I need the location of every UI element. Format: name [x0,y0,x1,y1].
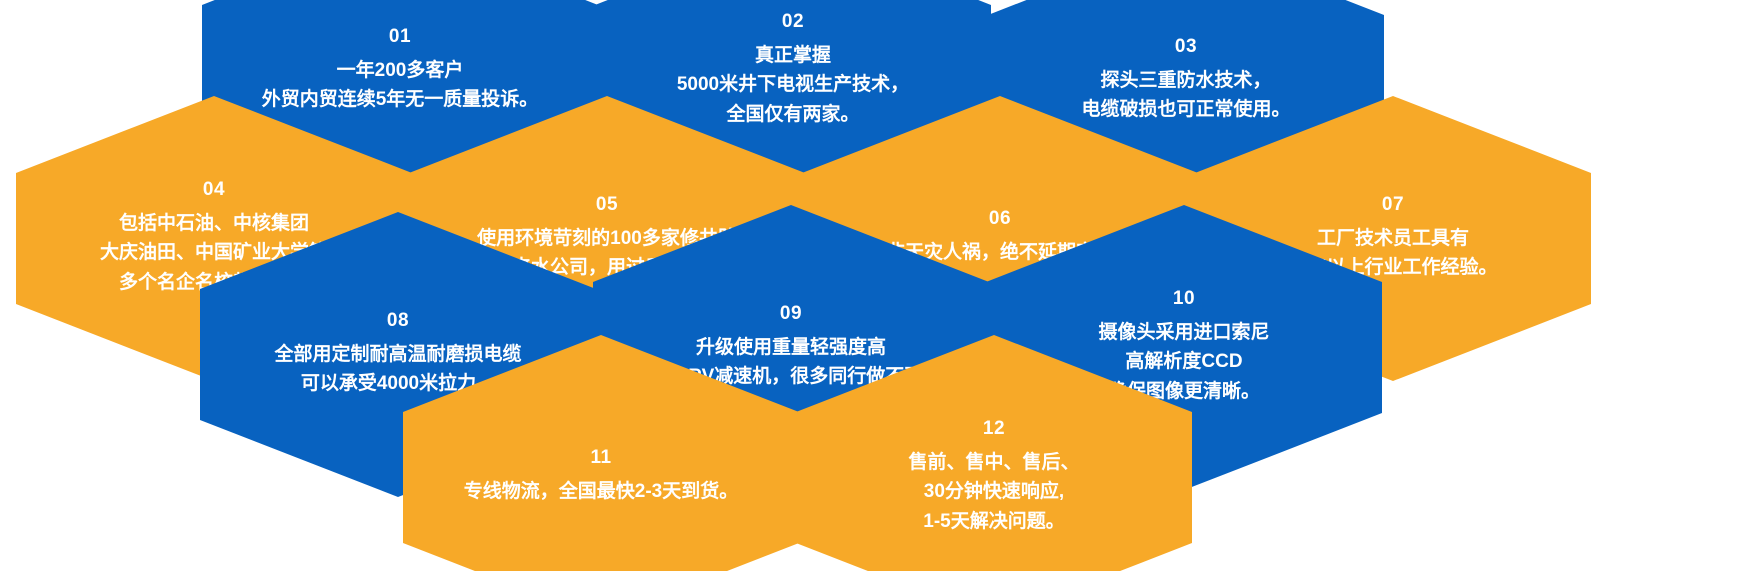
hex-number-03: 03 [1175,37,1197,58]
hex-text-line: 高解析度CCD [1098,347,1269,376]
hex-number-05: 05 [596,195,618,216]
hex-text-03: 探头三重防水技术，电缆破损也可正常使用。 [1081,66,1290,125]
hex-number-12: 12 [983,419,1005,440]
hex-text-line: 全国仅有两家。 [677,100,909,129]
hex-text-line: 包括中石油、中核集团 [100,209,328,238]
hex-text-line: 一年200多客户 [262,56,539,85]
hex-number-10: 10 [1173,289,1195,310]
hex-text-line: 外贸内贸连续5年无一质量投诉。 [262,85,539,114]
hex-text-line: 全部用定制耐高温耐磨损电缆 [274,340,521,369]
hex-text-12: 售前、售中、售后、30分钟快速响应,1-5天解决问题。 [908,448,1079,536]
hex-text-line: 30分钟快速响应, [908,477,1079,506]
hex-number-04: 04 [203,180,225,201]
hex-text-line: 专线物流，全国最快2-3天到货。 [464,477,738,506]
hex-number-09: 09 [780,304,802,325]
hex-text-line: 探头三重防水技术， [1081,66,1290,95]
hex-text-line: 1-5天解决问题。 [908,507,1079,536]
corner-accent-left-icon [50,122,112,146]
hex-text-line: 工厂技术员工具有 [1288,224,1497,253]
hex-text-line: 电缆破损也可正常使用。 [1081,95,1290,124]
hex-text-01: 一年200多客户外贸内贸连续5年无一质量投诉。 [262,56,539,115]
hex-number-06: 06 [989,209,1011,230]
hex-number-07: 07 [1382,195,1404,216]
hex-text-line: 售前、售中、售后、 [908,448,1079,477]
hex-number-02: 02 [782,12,804,33]
hex-text-line: 5000米井下电视生产技术， [677,70,909,99]
honeycomb-infographic: 01一年200多客户外贸内贸连续5年无一质量投诉。02真正掌握5000米井下电视… [0,0,1762,571]
hex-text-line: 升级使用重量轻强度高 [640,333,943,362]
hex-text-line: 真正掌握 [677,41,909,70]
hex-number-11: 11 [590,448,611,469]
hex-text-line: 摄像头采用进口索尼 [1098,318,1269,347]
hex-text-11: 专线物流，全国最快2-3天到货。 [464,477,738,506]
hex-number-08: 08 [387,311,409,332]
hex-number-01: 01 [389,27,411,48]
hex-text-02: 真正掌握5000米井下电视生产技术，全国仅有两家。 [677,41,909,129]
